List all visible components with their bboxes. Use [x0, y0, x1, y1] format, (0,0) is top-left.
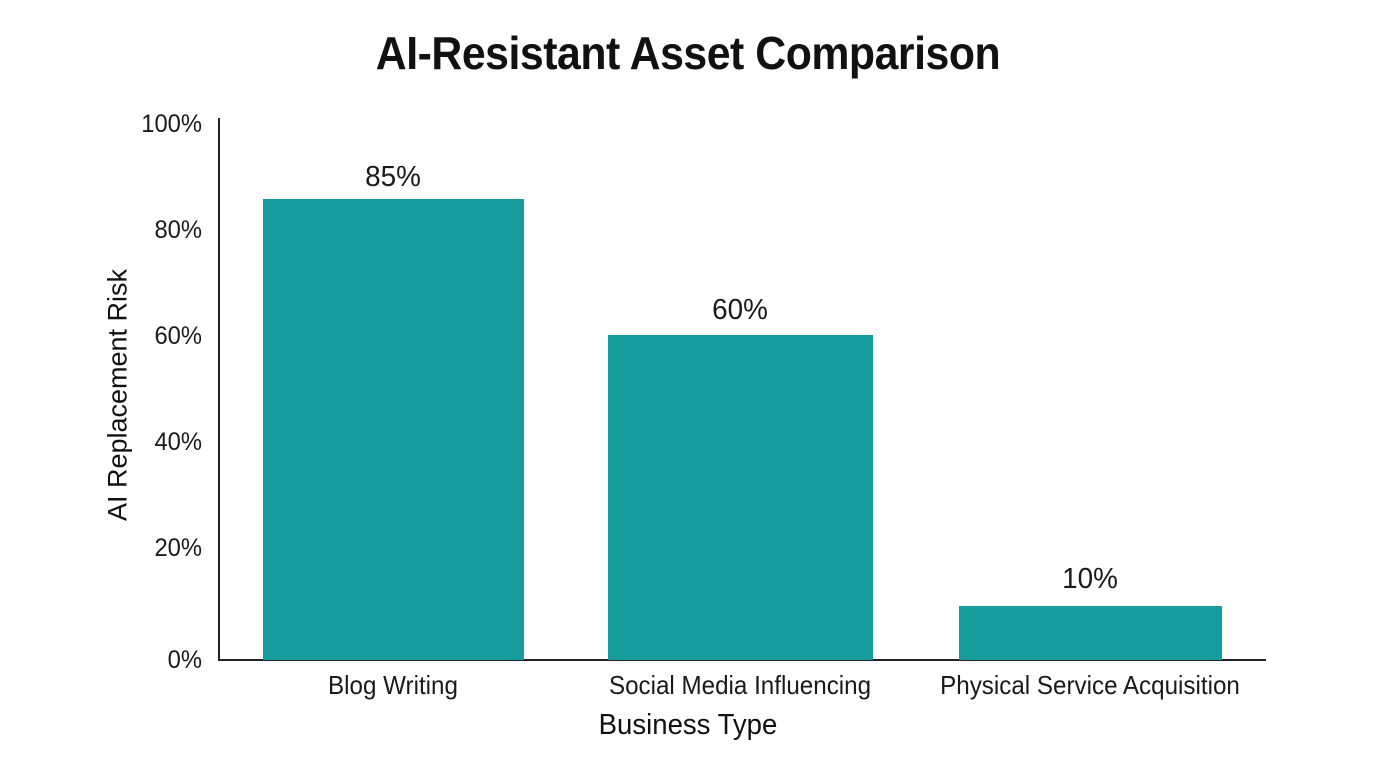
y-tick-label-40: 40% — [31, 428, 202, 457]
bar-physical-service-acquisition[interactable] — [959, 606, 1222, 660]
y-tick-label-100: 100% — [31, 110, 202, 139]
bar-social-media-influencing[interactable] — [608, 335, 873, 660]
bar-value-label-physical-service-acquisition: 10% — [1062, 563, 1118, 596]
y-tick-label-20: 20% — [31, 534, 202, 563]
chart-title: AI-Resistant Asset Comparison — [48, 26, 1328, 80]
y-tick-label-80: 80% — [31, 216, 202, 245]
bar-chart-figure: AI-Resistant Asset Comparison AI Replace… — [0, 0, 1376, 768]
y-tick-label-60: 60% — [31, 322, 202, 351]
x-category-label-physical-service-acquisition: Physical Service Acquisition — [940, 670, 1240, 701]
bar-value-label-blog-writing: 85% — [365, 161, 421, 194]
x-category-label-social-media-influencing: Social Media Influencing — [609, 670, 871, 701]
y-tick-label-0: 0% — [31, 646, 202, 675]
y-axis-title: AI Replacement Risk — [103, 269, 134, 521]
bar-value-label-social-media-influencing: 60% — [712, 294, 768, 327]
x-category-label-blog-writing: Blog Writing — [328, 670, 458, 701]
bar-blog-writing[interactable] — [263, 199, 524, 660]
x-axis-title: Business Type — [34, 709, 1341, 742]
